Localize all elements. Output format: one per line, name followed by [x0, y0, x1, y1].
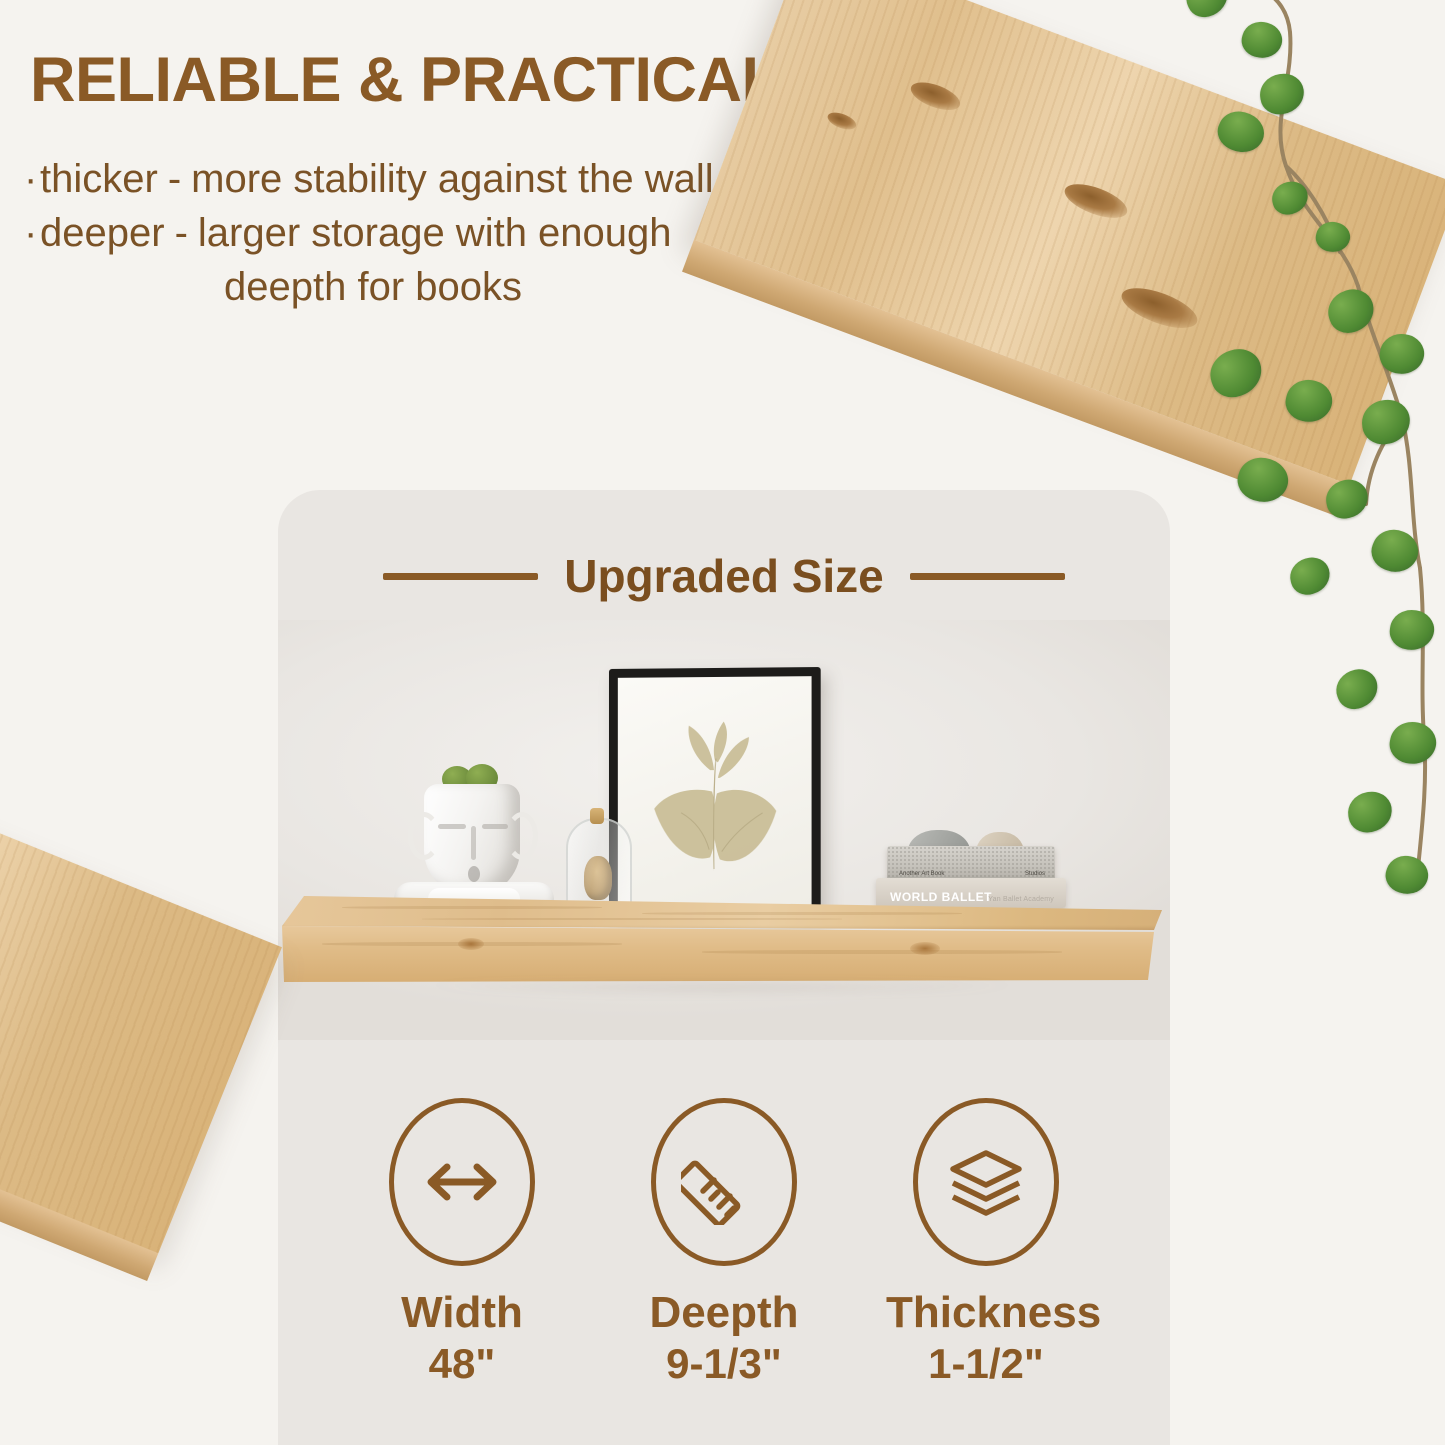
- vine-leaf: [1386, 718, 1440, 769]
- bullet-description: more stability against the wall: [191, 152, 713, 206]
- section-title: Upgraded Size: [564, 549, 884, 603]
- face-nose: [471, 826, 476, 860]
- planter-ear-right: [506, 812, 538, 860]
- spec-depth: Deepth 9-1/3": [624, 1098, 824, 1386]
- glass-cloche: [566, 808, 628, 910]
- vine-leaf: [1366, 523, 1424, 579]
- spec-width: Width 48": [362, 1098, 562, 1386]
- spec-label: Deepth: [624, 1290, 824, 1336]
- wood-plank-bottom-left: [0, 700, 282, 1253]
- book-top-right-text: Studios: [1025, 871, 1045, 877]
- spec-row: Width 48" Deepth 9-1/3": [278, 1098, 1170, 1398]
- section-heading: Upgraded Size: [278, 545, 1170, 607]
- spec-icon-circle: [913, 1098, 1059, 1266]
- vine-leaf: [1330, 664, 1383, 715]
- ruler-icon: [681, 1139, 767, 1225]
- cloche-knob: [590, 808, 604, 824]
- bullet-dash: -: [165, 206, 198, 260]
- bullet-marker: ·: [24, 206, 40, 260]
- spec-thickness: Thickness 1-1/2": [886, 1098, 1086, 1386]
- bullet-term: deeper: [40, 206, 165, 260]
- vine-leaf: [1381, 850, 1433, 899]
- vine-leaf: [1387, 607, 1436, 653]
- spec-value: 9-1/3": [624, 1342, 824, 1386]
- width-arrow-icon: [419, 1157, 505, 1207]
- botanical-leaf-icon: [618, 676, 812, 910]
- wood-plank-top-right: [694, 0, 1445, 485]
- bullet-marker: ·: [24, 152, 40, 206]
- vine-leaf: [1286, 553, 1334, 599]
- shelf-front-edge: [282, 924, 1158, 984]
- face-brow-right: [482, 824, 508, 829]
- art-mat: [618, 676, 812, 908]
- bullet-term: thicker: [40, 152, 158, 206]
- bullet-dash: -: [158, 152, 191, 206]
- product-infographic: RELIABLE & PRACTICAL ·thicker-more stabi…: [0, 0, 1445, 1445]
- vine-leaf: [1238, 17, 1286, 63]
- framed-art: [609, 667, 821, 917]
- book-top-left-text: Another Art Book: [899, 871, 944, 877]
- shelf-shadow: [302, 984, 1142, 1010]
- book-top: Another Art Book Studios: [887, 846, 1055, 880]
- vine-leaf: [1257, 71, 1306, 117]
- spec-value: 1-1/2": [886, 1342, 1086, 1386]
- face-brow-left: [438, 824, 466, 829]
- floating-shelf: [282, 896, 1162, 992]
- bullet-description: larger storage with enough: [198, 206, 672, 260]
- plank-surface: [0, 700, 282, 1253]
- spec-label: Width: [362, 1290, 562, 1336]
- spec-icon-circle: [651, 1098, 797, 1266]
- spec-value: 48": [362, 1342, 562, 1386]
- divider-line-right: [910, 573, 1065, 580]
- vine-leaf: [1345, 788, 1395, 835]
- vine-leaf: [1180, 0, 1234, 23]
- spec-icon-circle: [389, 1098, 535, 1266]
- face-mouth: [468, 866, 480, 882]
- planter-ear-left: [408, 812, 440, 860]
- spec-label: Thickness: [886, 1290, 1086, 1336]
- shelf-top-surface: [282, 896, 1162, 930]
- divider-line-left: [383, 573, 538, 580]
- shelf-scene: Another Art Book Studios WORLD BALLET Ya…: [278, 620, 1170, 1040]
- layers-icon: [943, 1145, 1029, 1219]
- face-planter: [408, 760, 538, 910]
